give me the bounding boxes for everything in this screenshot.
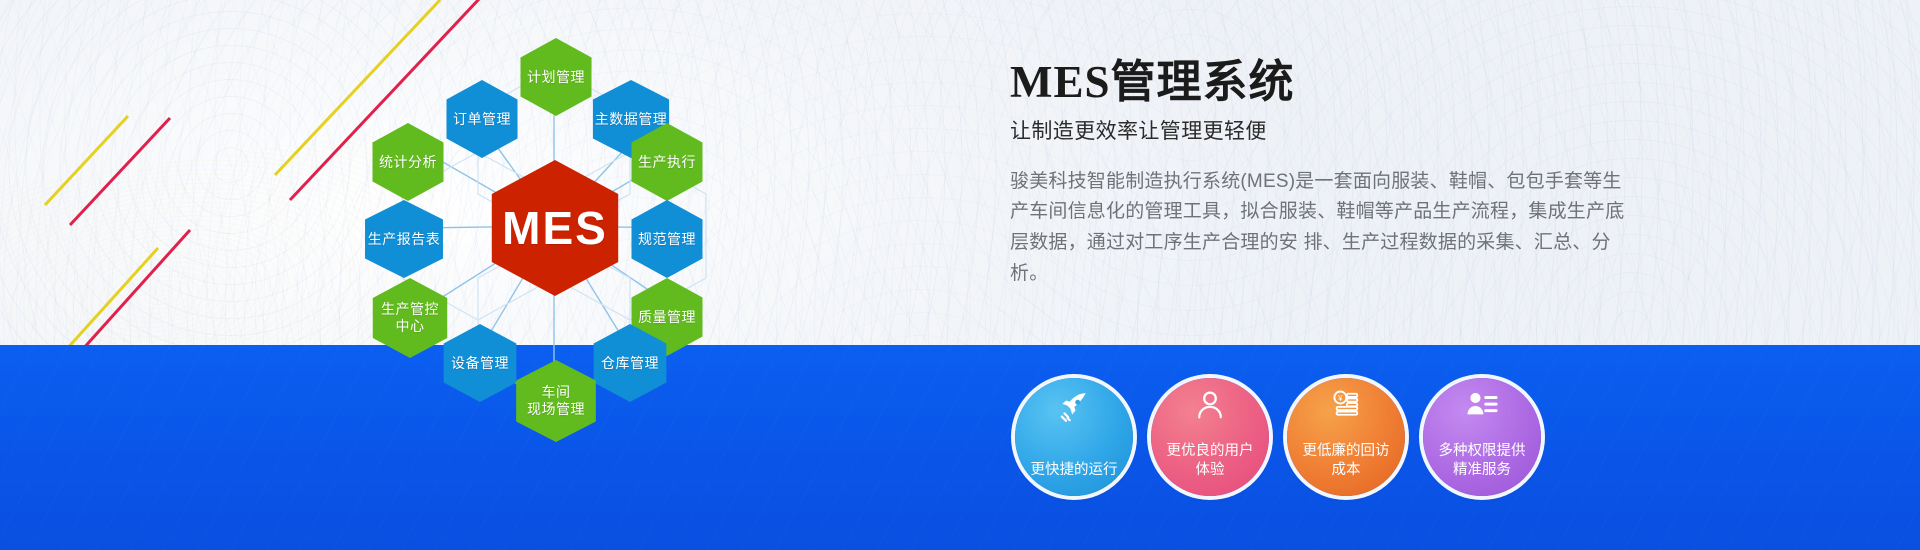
feature-badge-lower-revisit-cost[interactable]: ¥ 更低廉的回访 成本 — [1287, 378, 1405, 496]
mes-promo-banner: MES 计划管理 订单管理 主数据管理 统计分析 生产执行 生产报告表 规范管理… — [0, 0, 1920, 550]
user-icon — [1151, 390, 1269, 420]
feature-badge-label: 更快捷的运行 — [1015, 461, 1133, 496]
rocket-icon — [1015, 390, 1133, 424]
feature-badge-list: 更快捷的运行 更优良的用户 体验 ¥ — [1015, 378, 1635, 498]
coins-icon: ¥ — [1287, 390, 1405, 420]
feature-badge-multi-permission[interactable]: 多种权限提供 精准服务 — [1423, 378, 1541, 496]
hex-node-label: 订单管理 — [447, 111, 517, 128]
feature-badge-label: 更优良的用户 体验 — [1151, 442, 1269, 496]
page-subtitle: 让制造更效率让管理更轻便 — [1010, 115, 1630, 145]
hex-node-center-label: MES — [496, 201, 614, 255]
hex-node-label: 规范管理 — [632, 231, 702, 248]
hex-node-label: 主数据管理 — [589, 111, 674, 128]
hex-node-label: 统计分析 — [373, 154, 443, 171]
feature-badge-label: 更低廉的回访 成本 — [1287, 442, 1405, 496]
hex-node-label: 生产报告表 — [362, 231, 447, 248]
svg-text:¥: ¥ — [1338, 394, 1343, 403]
hex-node-label: 车间 现场管理 — [521, 384, 591, 417]
banner-text-block: MES管理系统 让制造更效率让管理更轻便 骏美科技智能制造执行系统(MES)是一… — [1010, 58, 1630, 290]
feature-badge-label: 多种权限提供 精准服务 — [1423, 442, 1541, 496]
page-description: 骏美科技智能制造执行系统(MES)是一套面向服装、鞋帽、包包手套等生产车间信息化… — [1010, 167, 1630, 290]
hex-node-label: 设备管理 — [445, 355, 515, 372]
user-list-icon — [1423, 390, 1541, 420]
hex-node-label: 仓库管理 — [595, 355, 665, 372]
page-title: MES管理系统 — [1010, 58, 1630, 107]
mes-hexagon-diagram: MES 计划管理 订单管理 主数据管理 统计分析 生产执行 生产报告表 规范管理… — [330, 18, 800, 438]
hex-node-label: 生产管控 中心 — [375, 301, 445, 334]
hex-node-label: 计划管理 — [521, 69, 591, 86]
feature-badge-better-user-experience[interactable]: 更优良的用户 体验 — [1151, 378, 1269, 496]
feature-badge-faster-operation[interactable]: 更快捷的运行 — [1015, 378, 1133, 496]
hex-node-label: 生产执行 — [632, 154, 702, 171]
hex-node-label: 质量管理 — [632, 309, 702, 326]
